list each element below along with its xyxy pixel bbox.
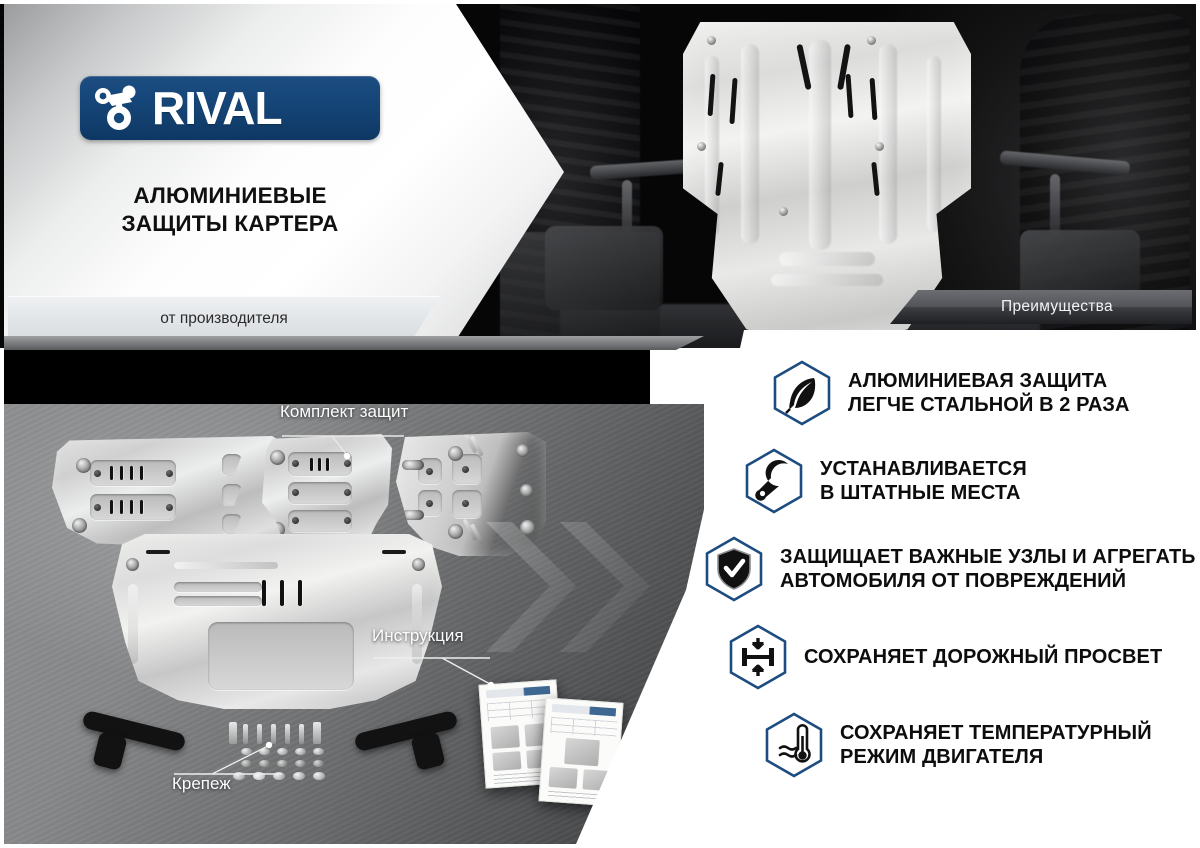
advantage-item: СОХРАНЯЕТ ДОРОЖНЫЙ ПРОСВЕТ: [728, 624, 1200, 690]
advantages-list: АЛЮМИНИЕВАЯ ЗАЩИТА ЛЕГЧЕ СТАЛЬНОЙ В 2 РА…: [772, 360, 1200, 800]
hero-shadow-band: [4, 336, 704, 350]
product-kit-photo: Комплект защит Инструкция Крепеж: [4, 404, 704, 844]
advantage-item: ЗАЩИЩАЕТ ВАЖНЫЕ УЗЛЫ И АГРЕГАТЫ АВТОМОБИ…: [704, 536, 1200, 602]
rival-logo[interactable]: RIVAL: [80, 76, 380, 140]
mounting-bracket-right: [353, 710, 458, 753]
advantage-text: УСТАНАВЛИВАЕТСЯ В ШТАТНЫЕ МЕСТА: [820, 457, 1027, 505]
manufacturer-bar: от производителя: [8, 296, 440, 340]
promo-banner: Преимущества: [0, 0, 1200, 848]
black-divider-band: [4, 350, 650, 404]
advantages-tab-label: Преимущества: [941, 298, 1113, 316]
mounting-bracket-right-arm: [410, 731, 445, 771]
page-title: АЛЮМИНИЕВЫЕ ЗАЩИТЫ КАРТЕРА: [122, 182, 339, 239]
label-kit-leader: [280, 424, 410, 460]
hero-inner: RIVAL АЛЮМИНИЕВЫЕ ЗАЩИТЫ КАРТЕРА: [4, 4, 456, 340]
feather-icon: [772, 360, 832, 426]
page-title-line2: ЗАЩИТЫ КАРТЕРА: [122, 210, 339, 238]
molecule-icon: [92, 82, 154, 134]
thermometer-icon: [764, 712, 824, 778]
ground-clearance-icon: [728, 624, 788, 690]
advantage-text: ЗАЩИЩАЕТ ВАЖНЫЕ УЗЛЫ И АГРЕГАТЫ АВТОМОБИ…: [780, 545, 1200, 593]
hero-card: RIVAL АЛЮМИНИЕВЫЕ ЗАЩИТЫ КАРТЕРА от прои…: [4, 4, 564, 348]
advantage-item: УСТАНАВЛИВАЕТСЯ В ШТАТНЫЕ МЕСТА: [744, 448, 1200, 514]
advantage-text: СОХРАНЯЕТ ТЕМПЕРАТУРНЫЙ РЕЖИМ ДВИГАТЕЛЯ: [840, 721, 1152, 769]
page-title-line1: АЛЮМИНИЕВЫЕ: [122, 182, 339, 210]
advantage-item: АЛЮМИНИЕВАЯ ЗАЩИТА ЛЕГЧЕ СТАЛЬНОЙ В 2 РА…: [772, 360, 1200, 426]
advantage-text: АЛЮМИНИЕВАЯ ЗАЩИТА ЛЕГЧЕ СТАЛЬНОЙ В 2 РА…: [848, 369, 1130, 417]
label-manual-leader: [372, 648, 502, 694]
wrench-icon: [744, 448, 804, 514]
chassis-member-left: [500, 232, 660, 348]
rival-wordmark: RIVAL: [152, 85, 282, 131]
shield-check-icon: [704, 536, 764, 602]
label-hardware-leader: [172, 740, 302, 778]
advantage-item: СОХРАНЯЕТ ТЕМПЕРАТУРНЫЙ РЕЖИМ ДВИГАТЕЛЯ: [764, 712, 1200, 778]
stabilizer-right: [1050, 174, 1060, 236]
advantage-text: СОХРАНЯЕТ ДОРОЖНЫЙ ПРОСВЕТ: [804, 645, 1162, 669]
label-manual: Инструкция: [372, 626, 464, 646]
manufacturer-label: от производителя: [160, 310, 288, 328]
label-kit: Комплект защит: [280, 404, 408, 422]
mounting-bracket-left-arm: [92, 731, 127, 771]
